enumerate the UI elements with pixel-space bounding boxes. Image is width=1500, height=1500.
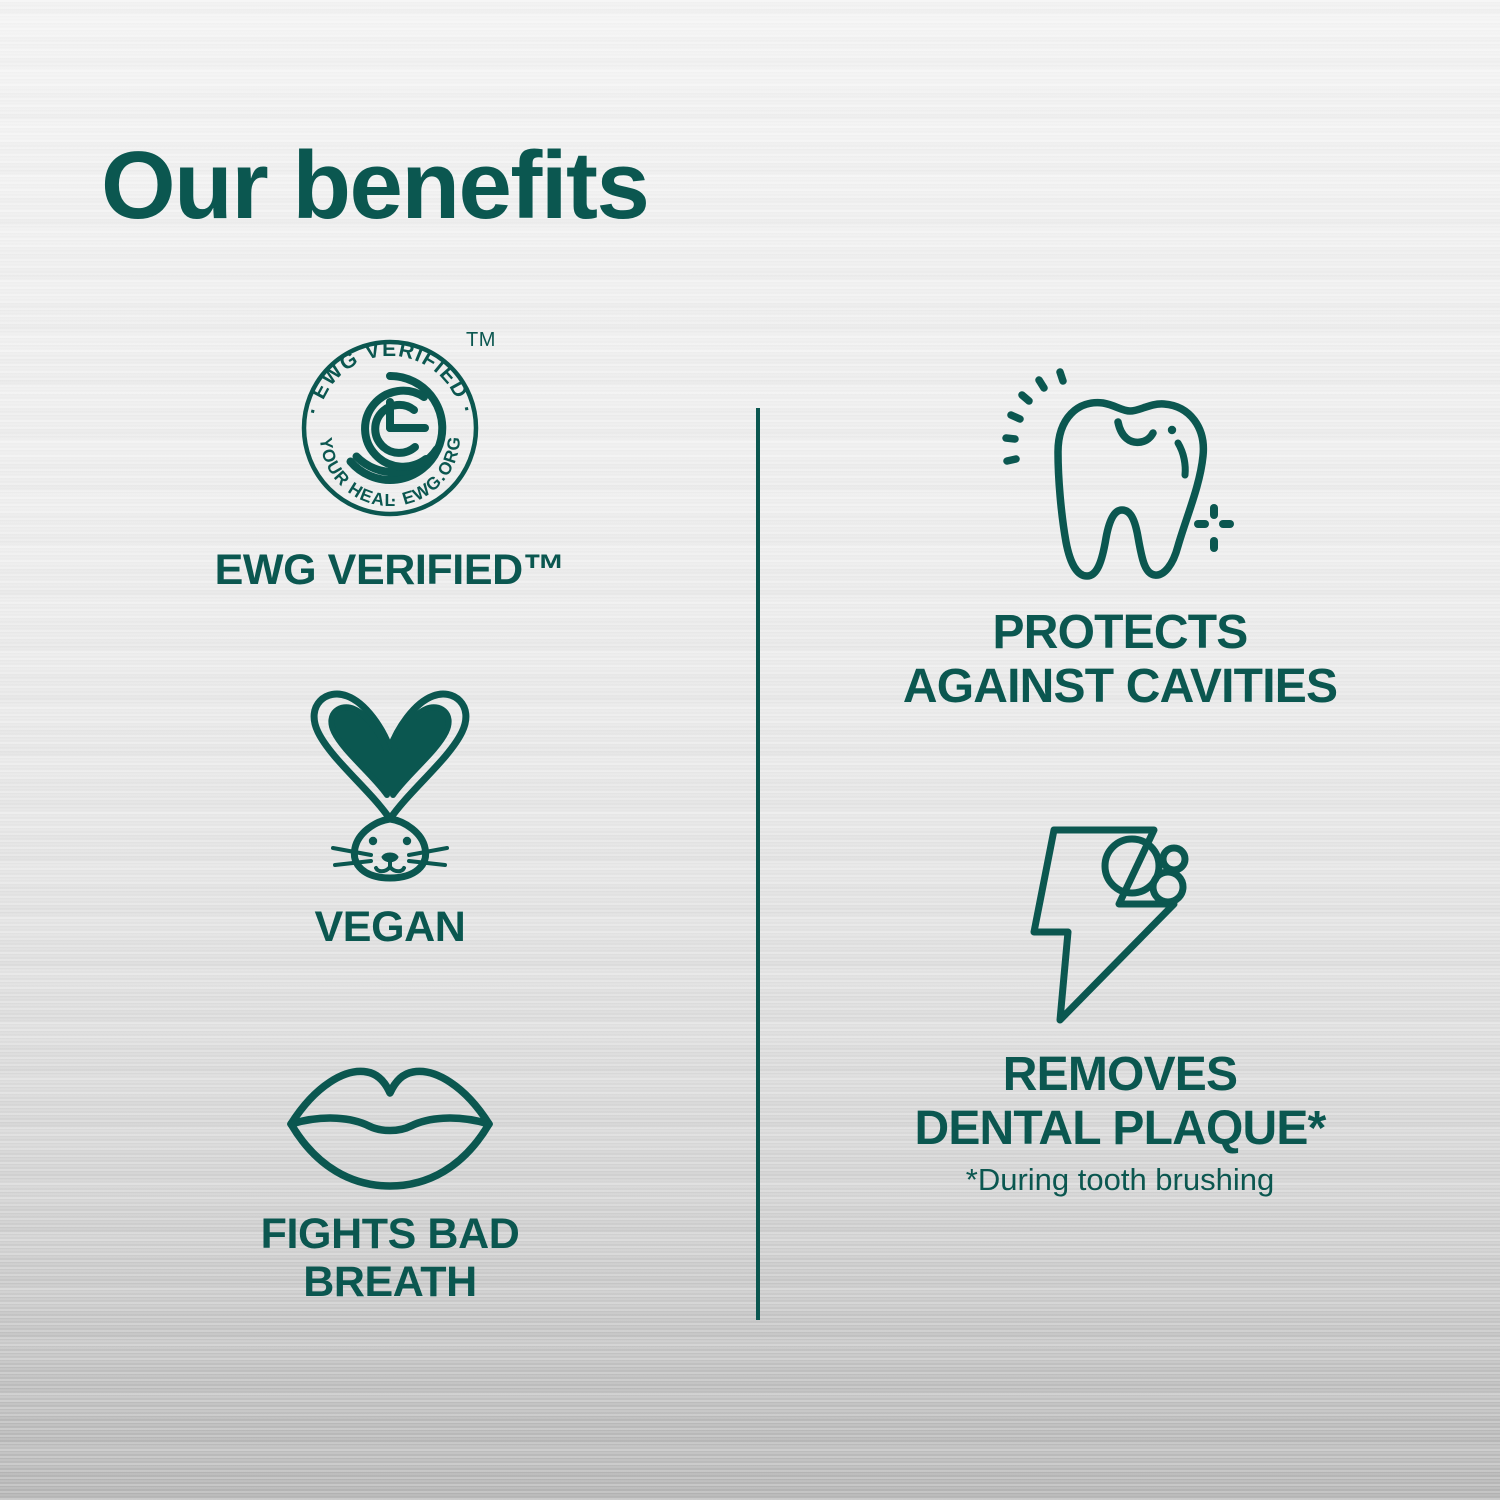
- bubble-medium: [1153, 872, 1183, 902]
- ewg-verified-badge-icon: · EWG VERIFIED · FOR YOUR HEALTH · · EWG…: [280, 318, 500, 528]
- benefit-label: FIGHTS BAD BREATH: [60, 1210, 720, 1306]
- benefit-protects-against-cavities: PROTECTS AGAINST CAVITIES: [790, 360, 1450, 714]
- benefit-ewg-verified: · EWG VERIFIED · FOR YOUR HEALTH · · EWG…: [60, 318, 720, 594]
- benefit-label: EWG VERIFIED™: [60, 546, 720, 594]
- bunny-heart-ears-icon: [285, 685, 495, 885]
- sparkle-plus-icon: [1194, 504, 1234, 552]
- icon-container: [60, 1060, 720, 1192]
- lightning-bolt-bubbles-icon: [1022, 818, 1218, 1030]
- benefit-label: PROTECTS AGAINST CAVITIES: [790, 606, 1450, 714]
- benefit-label: REMOVES DENTAL PLAQUE*: [790, 1048, 1450, 1156]
- bubble-small: [1163, 848, 1185, 870]
- lips-icon: [275, 1060, 505, 1192]
- icon-container: [790, 360, 1450, 588]
- trademark-mark: TM: [466, 329, 496, 351]
- benefits-panel: Our benefits: [0, 0, 1500, 1500]
- icon-container: [60, 685, 720, 885]
- icon-container: [790, 818, 1450, 1030]
- benefit-fights-bad-breath: FIGHTS BAD BREATH: [60, 1060, 720, 1306]
- benefit-vegan: VEGAN: [60, 685, 720, 951]
- benefit-removes-dental-plaque: REMOVES DENTAL PLAQUE* *During tooth bru…: [790, 818, 1450, 1198]
- benefit-label: VEGAN: [60, 903, 720, 951]
- column-divider: [756, 408, 760, 1320]
- icon-container: · EWG VERIFIED · FOR YOUR HEALTH · · EWG…: [60, 318, 720, 528]
- sparkling-tooth-icon: [1000, 360, 1240, 588]
- benefit-footnote: *During tooth brushing: [790, 1162, 1450, 1198]
- page-title: Our benefits: [101, 136, 648, 237]
